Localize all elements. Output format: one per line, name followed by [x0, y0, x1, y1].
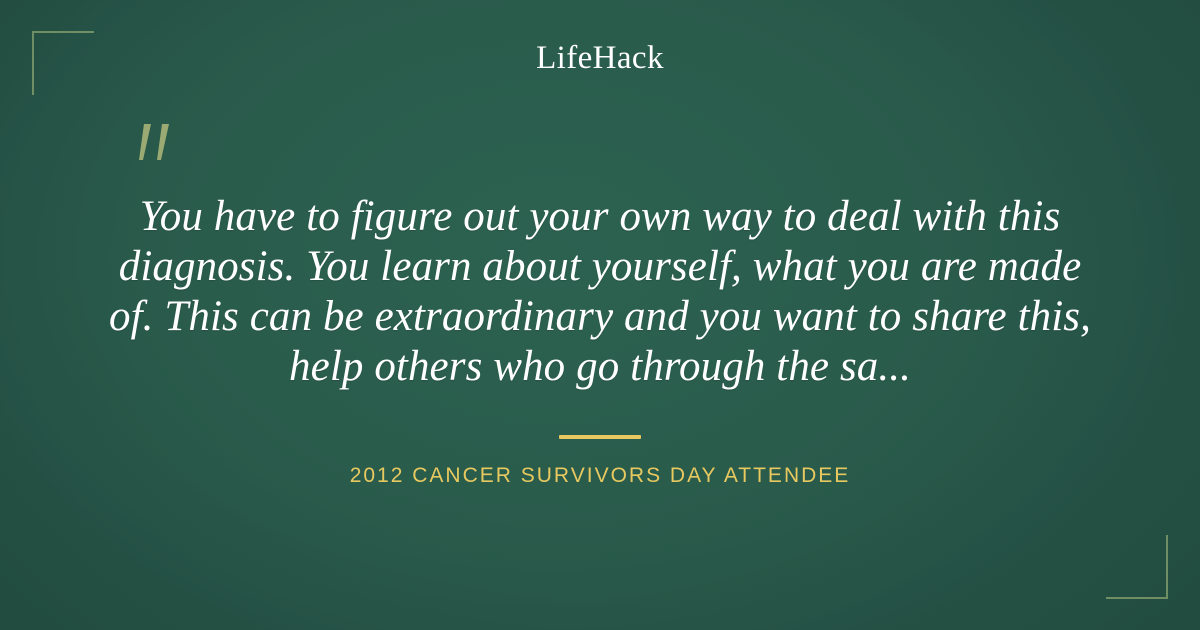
double-quote-icon: [128, 120, 188, 176]
quote-attribution: 2012 CANCER SURVIVORS DAY ATTENDEE: [0, 463, 1200, 488]
brand-logo: LifeHack: [0, 42, 1200, 75]
quote-text: You have to figure out your own way to d…: [105, 192, 1095, 392]
quote-card: LifeHack You have to figure out your own…: [0, 0, 1200, 630]
divider-rule: [559, 435, 641, 439]
corner-bracket-bottom-right-icon: [1106, 535, 1168, 599]
quote-block: You have to figure out your own way to d…: [105, 192, 1095, 392]
